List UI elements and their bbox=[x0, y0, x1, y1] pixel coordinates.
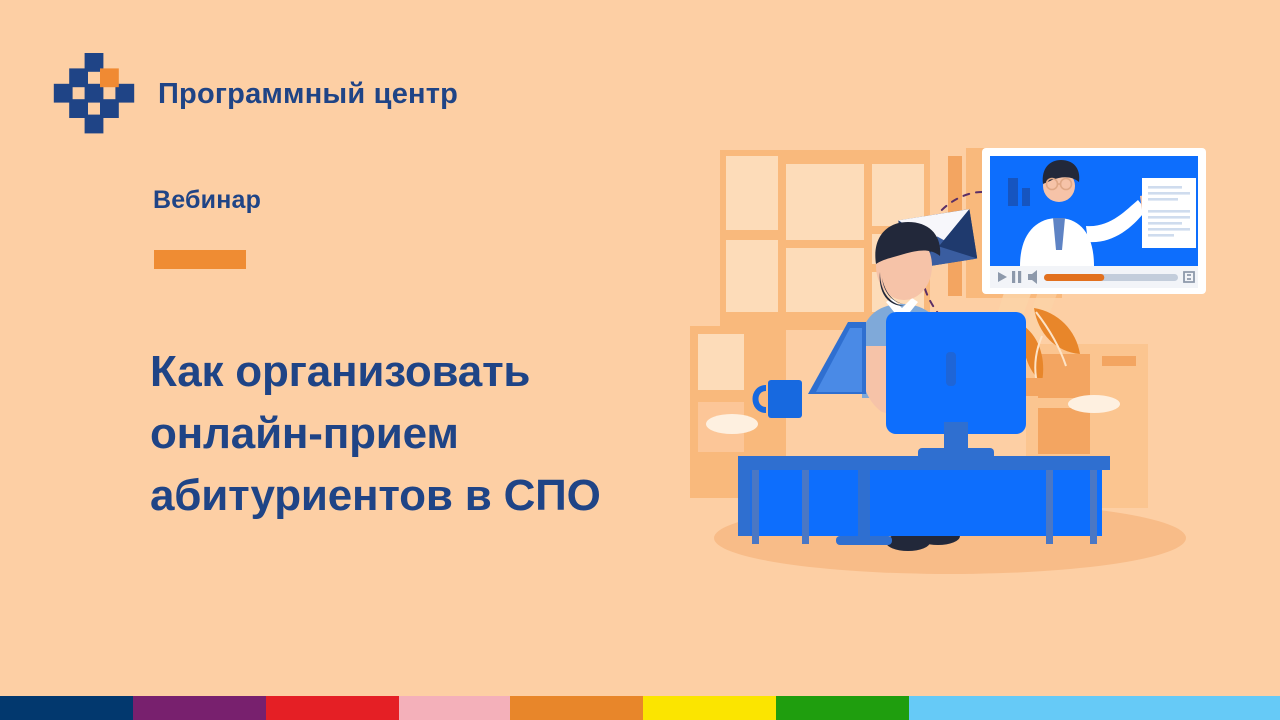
kicker-label: Вебинар bbox=[153, 186, 261, 215]
page-title: Как организовать онлайн-прием абитуриент… bbox=[150, 341, 710, 527]
checkerboard-diamond-logo-icon bbox=[52, 52, 136, 136]
ribbon-segment-lightblue bbox=[909, 696, 1280, 720]
ribbon-segment-navy bbox=[0, 696, 133, 720]
ribbon-segment-yellow bbox=[643, 696, 776, 720]
ribbon-segment-purple bbox=[133, 696, 266, 720]
laptop bbox=[808, 322, 866, 394]
document-sheet-icon bbox=[1142, 178, 1196, 248]
color-ribbon bbox=[0, 696, 1280, 720]
ribbon-segment-red bbox=[266, 696, 399, 720]
ribbon-segment-orange bbox=[510, 696, 643, 720]
ribbon-segment-pink bbox=[399, 696, 510, 720]
accent-divider bbox=[154, 250, 246, 269]
ribbon-segment-green bbox=[776, 696, 909, 720]
brand-name: Программный центр bbox=[158, 78, 458, 111]
desktop-monitor bbox=[886, 312, 1026, 460]
webinar-title-slide: Программный центр Вебинар Как организова… bbox=[0, 0, 1280, 720]
video-player-panel bbox=[982, 148, 1206, 294]
webinar-office-illustration bbox=[690, 130, 1210, 590]
video-controls bbox=[990, 266, 1198, 288]
desk bbox=[738, 456, 1110, 545]
brand-header: Программный центр bbox=[52, 52, 458, 136]
